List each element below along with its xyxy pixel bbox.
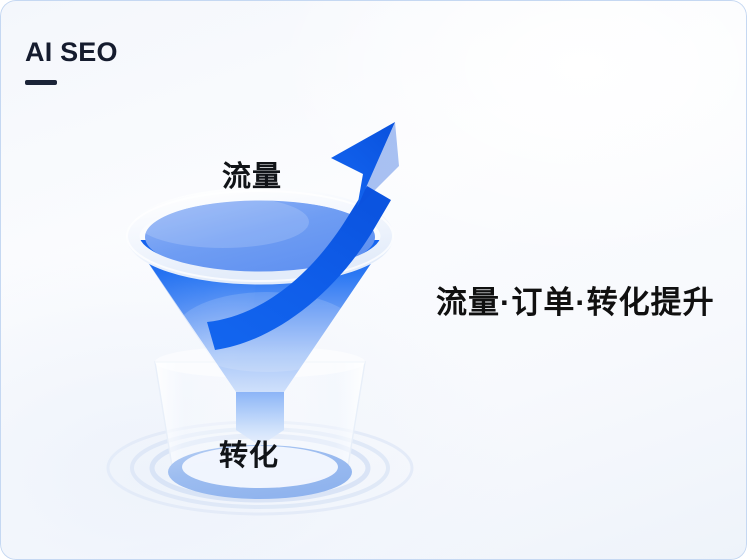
- funnel-label-traffic: 流量: [222, 153, 282, 195]
- title-block: AI SEO: [25, 38, 118, 85]
- page-title: AI SEO: [25, 38, 118, 66]
- title-underline-rule: [25, 80, 57, 85]
- poster-canvas: AI SEO 流量 转化 流量·订单·转化提升: [0, 0, 747, 560]
- tagline-text: 流量·订单·转化提升: [436, 277, 715, 322]
- funnel-label-conversion: 转化: [219, 432, 279, 474]
